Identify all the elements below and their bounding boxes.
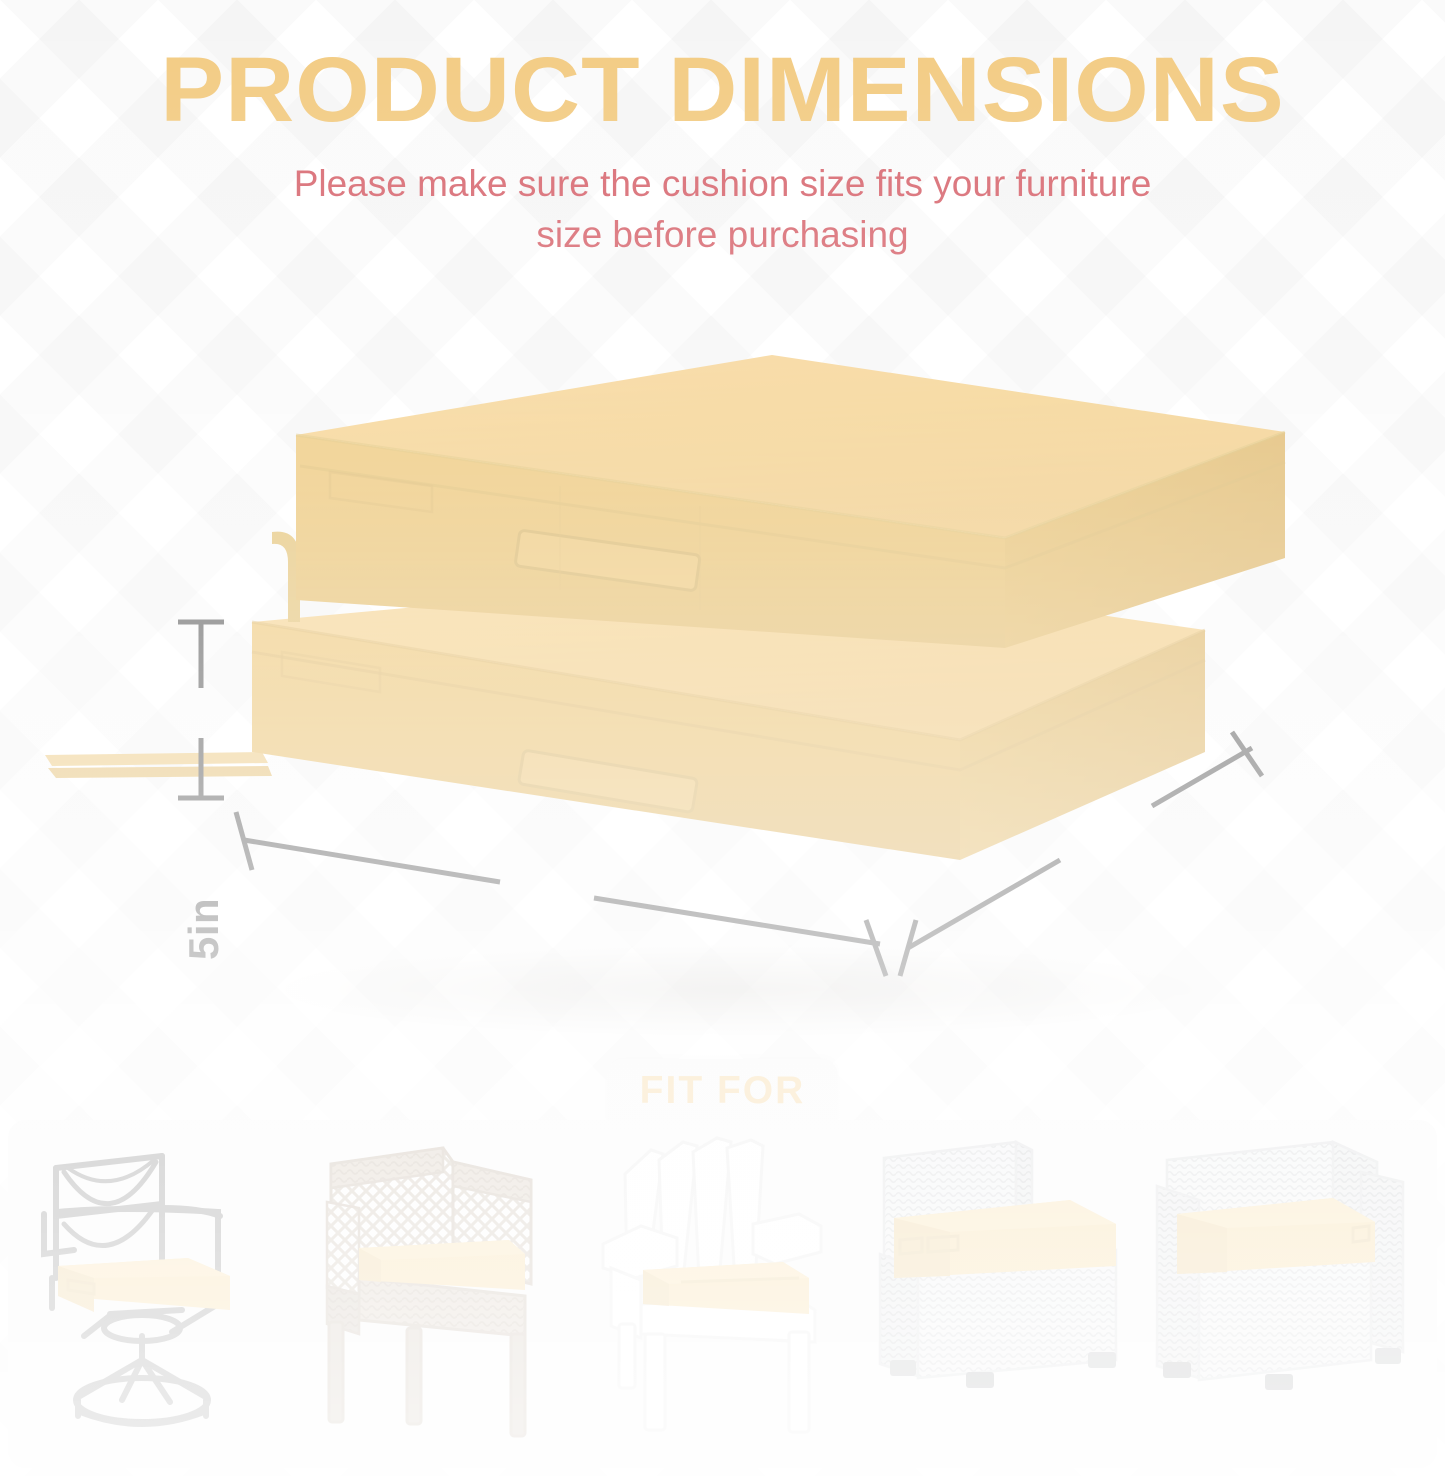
wicker-armchair-icon — [303, 1128, 579, 1458]
fit-item-armless-sectional — [866, 1128, 1142, 1458]
fit-for-tab: FIT FOR — [607, 1059, 838, 1122]
bottom-cushion-tie-strap-1 — [45, 752, 268, 766]
fit-item-swivel-dining-chair — [22, 1128, 298, 1458]
depth-tick-right — [1232, 732, 1262, 776]
swivel-dining-chair-icon — [22, 1128, 298, 1458]
fit-for-panel — [8, 1120, 1437, 1468]
swivel-chair-cushion — [58, 1258, 230, 1312]
fit-item-wicker-armchair — [303, 1128, 579, 1458]
corner-sectional-icon — [1147, 1128, 1423, 1458]
header-block: PRODUCT DIMENSIONS Please make sure the … — [0, 0, 1445, 260]
adirondack-chair-icon — [585, 1128, 861, 1458]
armless-sectional-icon — [866, 1128, 1142, 1458]
width-line-right-seg — [594, 898, 880, 944]
top-cushion-tie-strap — [272, 532, 300, 622]
fit-item-corner-sectional — [1147, 1128, 1423, 1458]
product-hero-illustration: 5in 24in 24in — [0, 300, 1445, 1060]
fit-for-label: FIT FOR — [640, 1069, 806, 1113]
width-line-left-seg — [244, 840, 500, 882]
fit-for-items-row — [8, 1120, 1437, 1468]
bottom-cushion-tie-strap-2 — [48, 766, 272, 778]
depth-line-lower-seg — [908, 860, 1060, 948]
page-subtitle: Please make sure the cushion size fits y… — [273, 158, 1173, 260]
fit-item-adirondack-chair — [585, 1128, 861, 1458]
dimension-label-height: 5in — [180, 898, 228, 960]
floor-shadow — [270, 944, 1210, 1036]
page-title: PRODUCT DIMENSIONS — [0, 0, 1445, 136]
infographic-page: PRODUCT DIMENSIONS Please make sure the … — [0, 0, 1445, 1476]
